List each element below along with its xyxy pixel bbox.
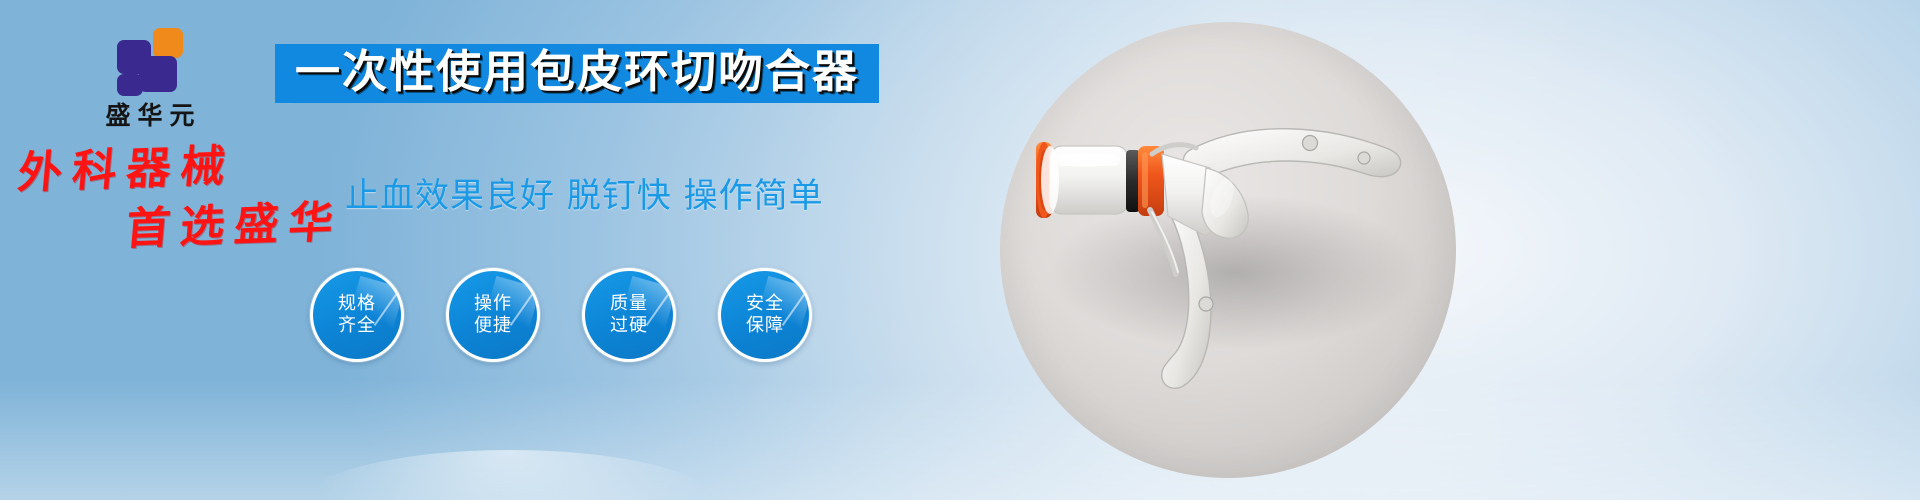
subtitle: 止血效果良好 脱钉快 操作简单 (345, 168, 824, 217)
feature-badge-quality[interactable]: 质量 过硬 (582, 268, 676, 362)
page-title: 一次性使用包皮环切吻合器 (295, 48, 859, 95)
product-photo (1000, 22, 1456, 478)
badge-label-line1: 操作 (474, 293, 512, 316)
badge-slash-icon (374, 292, 399, 326)
badge-slash-icon (510, 292, 535, 326)
badge-label-line2: 过硬 (610, 315, 648, 338)
calligraphy-line-2: 首选盛华 (124, 200, 351, 252)
calligraphy-slogan: 外科器械 首选盛华 (18, 152, 348, 252)
feature-badge-group: 规格 齐全 操作 便捷 质量 过硬 安全 保障 (310, 268, 812, 362)
feature-badge-specs[interactable]: 规格 齐全 (310, 268, 404, 362)
main-title-bar: 一次性使用包皮环切吻合器 (275, 44, 879, 103)
logo-block-purple-bottom (117, 74, 143, 96)
logo-block-orange (153, 28, 183, 58)
brand-name: 盛华元 (60, 96, 240, 132)
feature-badge-operation[interactable]: 操作 便捷 (446, 268, 540, 362)
badge-label-line2: 保障 (746, 315, 784, 338)
badge-label-line1: 安全 (746, 293, 784, 316)
background-bottom-haze (0, 380, 1920, 500)
background-bottom-arc (300, 450, 720, 500)
badge-label-line2: 便捷 (474, 315, 512, 338)
circumcision-stapler-device-photo-icon (1000, 22, 1456, 478)
badge-label-line2: 齐全 (338, 315, 376, 338)
badge-slash-icon (646, 292, 671, 326)
calligraphy-line-1: 外科器械 (16, 140, 351, 195)
brand-logo: 盛华元 (60, 28, 240, 132)
logo-block-purple-center (139, 56, 177, 92)
shenghuayuan-blocks-logo-icon (117, 28, 183, 90)
badge-label-line1: 质量 (610, 293, 648, 316)
badge-label-line1: 规格 (338, 293, 376, 316)
feature-badge-safety[interactable]: 安全 保障 (718, 268, 812, 362)
badge-slash-icon (782, 292, 807, 326)
